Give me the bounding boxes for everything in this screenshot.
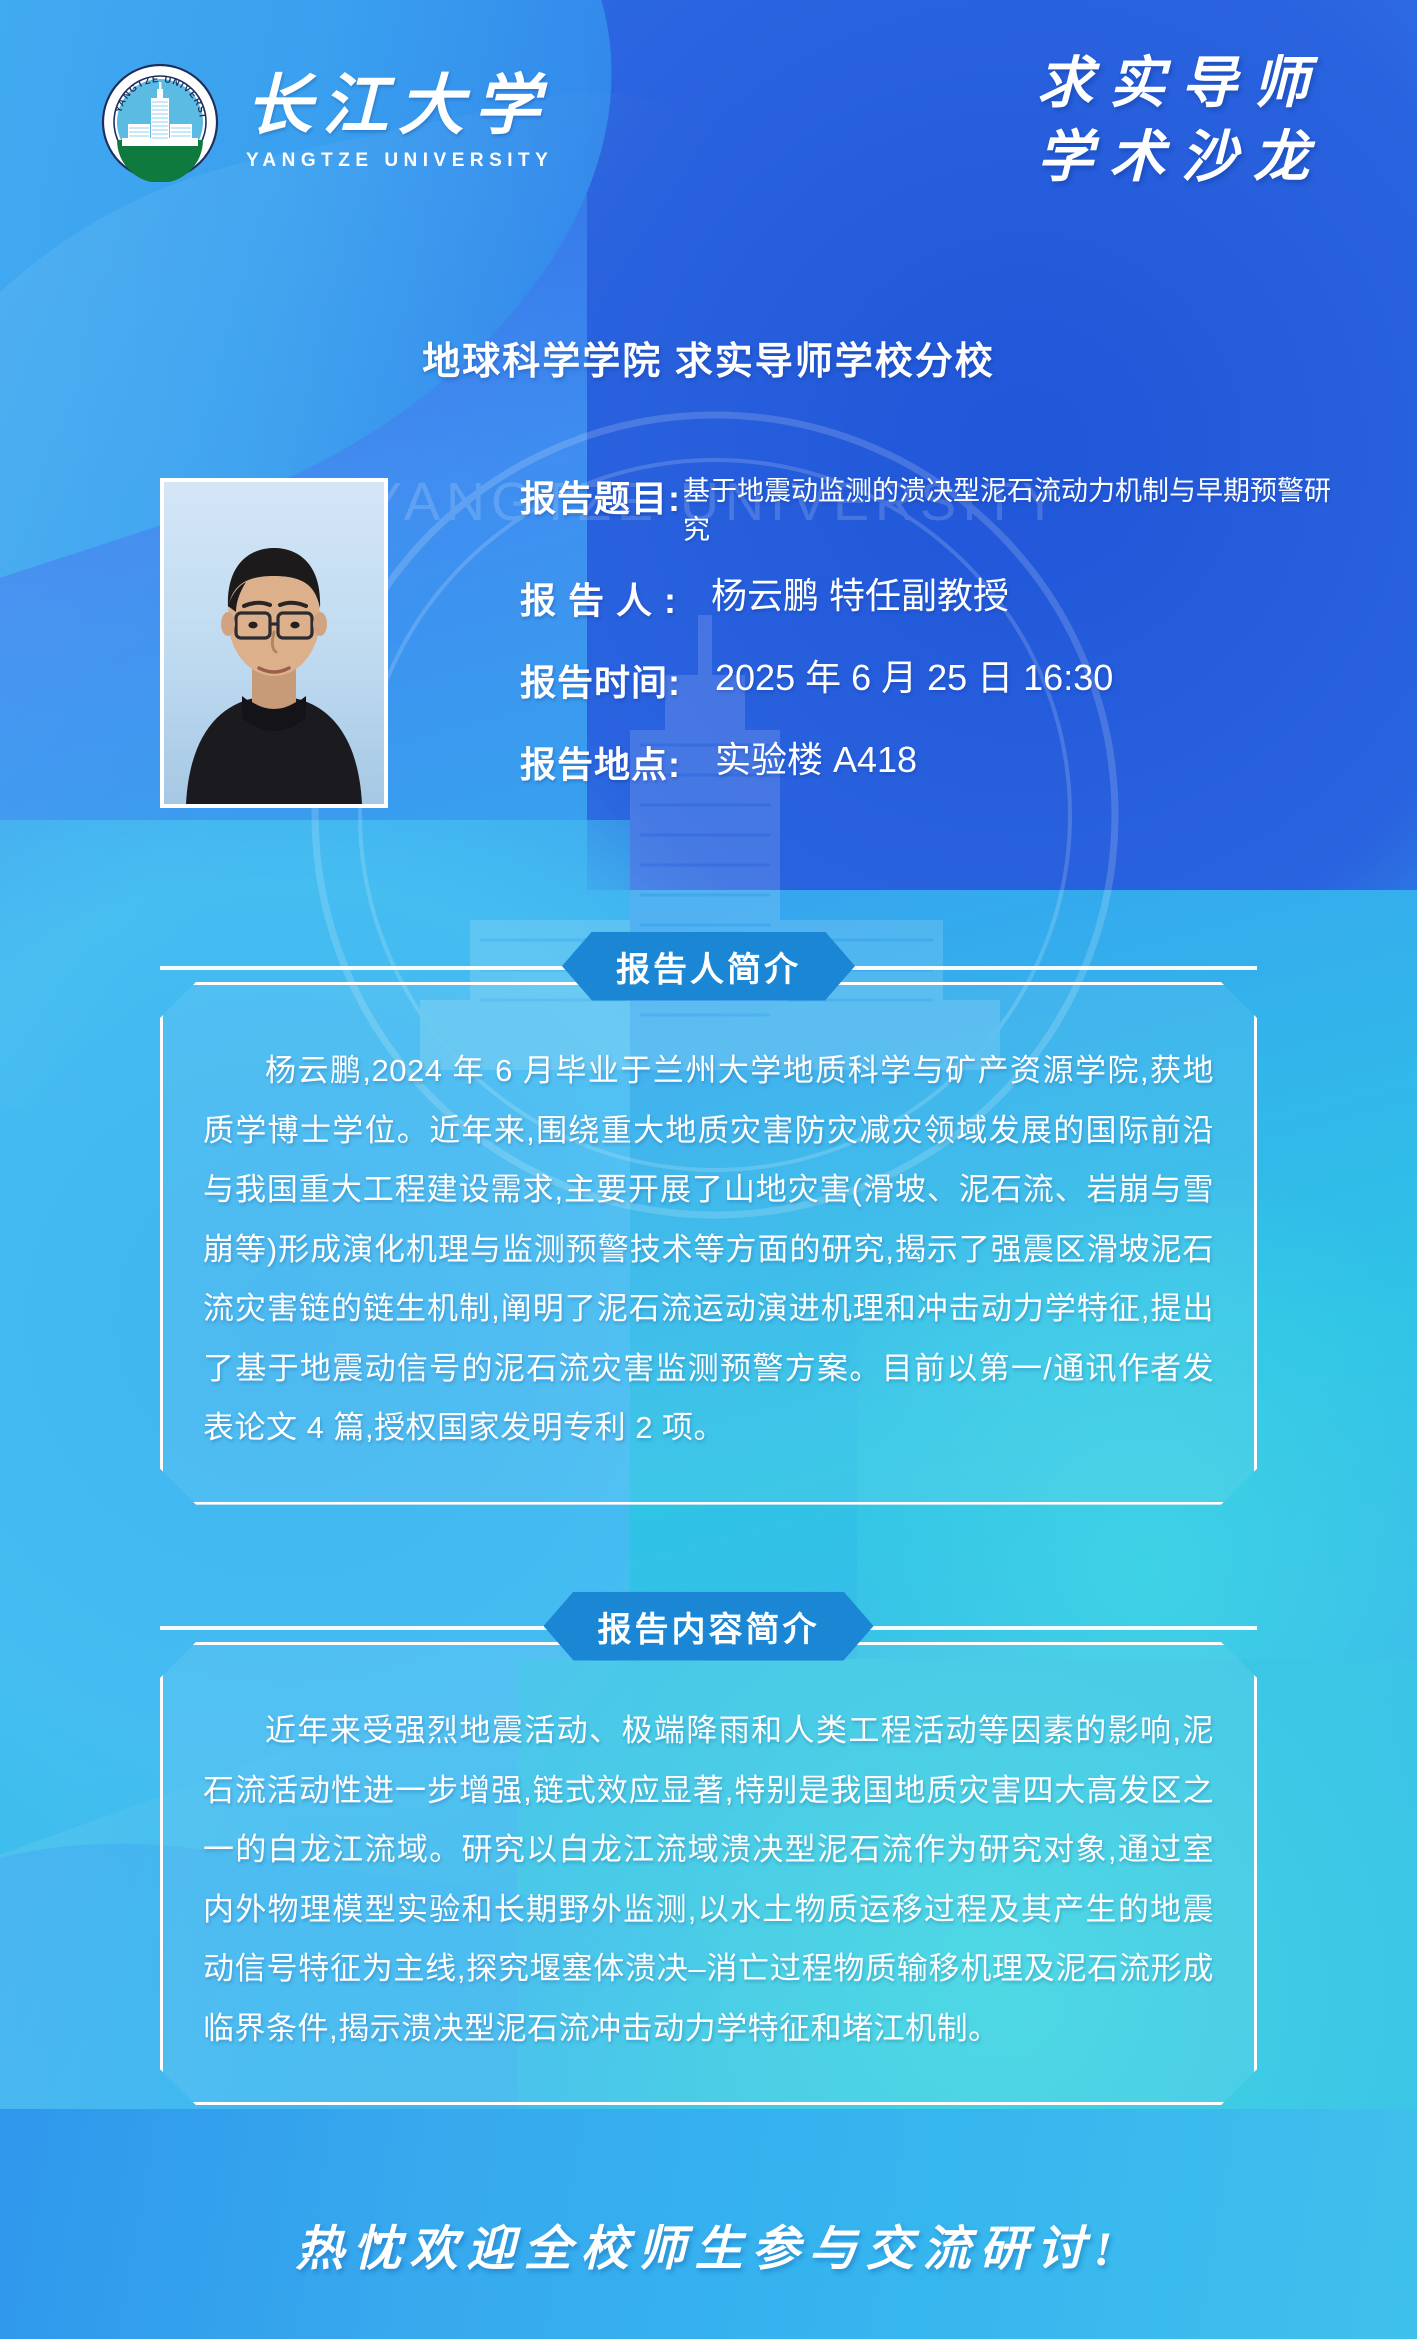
poster-canvas: YANGTZE UNIVERSITY	[0, 0, 1417, 2339]
speaker-portrait-icon	[164, 482, 384, 804]
place-label: 报告地点:	[520, 736, 681, 788]
time-value: 2025 年 6 月 25 日 16:30	[715, 654, 1113, 703]
info-row-time: 报告时间: 2025 年 6 月 25 日 16:30	[520, 654, 1350, 706]
yangtze-university-seal-icon: YANGTZE UNIVERSITY	[100, 62, 220, 182]
university-name-en: YANGTZE UNIVERSITY	[246, 150, 553, 172]
report-title-label: 报告题目:	[520, 470, 681, 522]
poster-footer: 热忱欢迎全校师生参与交流研讨!	[0, 2209, 1417, 2279]
speaker-photo	[160, 478, 388, 808]
card-report-abstract: 近年来受强烈地震活动、极端降雨和人类工程活动等因素的影响,泥石流活动性进一步增强…	[160, 1642, 1257, 2105]
section-report-abstract: 报告内容简介 近年来受强烈地震活动、极端降雨和人类工程活动等因素的影响,泥石流活…	[0, 1590, 1417, 2105]
banner-speaker-bio: 报告人简介	[0, 930, 1417, 1002]
banner-report-abstract: 报告内容简介	[0, 1590, 1417, 1662]
footer-welcome-text: 热忱欢迎全校师生参与交流研讨!	[296, 2223, 1122, 2276]
salon-title-line1: 求实导师	[1037, 48, 1325, 122]
event-info-block: 报告题目: 基于地震动监测的溃决型泥石流动力机制与早期预警研究 报 告 人 : …	[0, 470, 1417, 890]
university-logo-block: YANGTZE UNIVERSITY 长江大学 YANGTZE UNIVERSI…	[100, 62, 553, 182]
speaker-label: 报 告 人 :	[520, 572, 677, 624]
report-abstract-text: 近年来受强烈地震活动、极端降雨和人类工程活动等因素的影响,泥石流活动性进一步增强…	[203, 1701, 1214, 2058]
info-row-speaker: 报 告 人 : 杨云鹏 特任副教授	[520, 572, 1350, 624]
sub-header-text: 地球科学学院 求实导师学校分校	[0, 330, 1417, 385]
poster-header: YANGTZE UNIVERSITY 长江大学 YANGTZE UNIVERSI…	[0, 0, 1417, 290]
speaker-bio-text: 杨云鹏,2024 年 6 月毕业于兰州大学地质科学与矿产资源学院,获地质学博士学…	[203, 1041, 1214, 1458]
info-row-place: 报告地点: 实验楼 A418	[520, 736, 1350, 788]
salon-title-block: 求实导师 学术沙龙	[1037, 48, 1325, 196]
event-info-lines: 报告题目: 基于地震动监测的溃决型泥石流动力机制与早期预警研究 报 告 人 : …	[520, 470, 1350, 814]
university-name-block: 长江大学 YANGTZE UNIVERSITY	[246, 72, 553, 171]
report-title-value: 基于地震动监测的溃决型泥石流动力机制与早期预警研究	[683, 472, 1350, 550]
banner-label-report-abstract: 报告内容简介	[544, 1592, 874, 1661]
info-row-title: 报告题目: 基于地震动监测的溃决型泥石流动力机制与早期预警研究	[520, 470, 1350, 550]
time-label: 报告时间:	[520, 654, 681, 706]
section-speaker-bio: 报告人简介 杨云鹏,2024 年 6 月毕业于兰州大学地质科学与矿产资源学院,获…	[0, 930, 1417, 1505]
salon-title-line2: 学术沙龙	[1037, 122, 1325, 196]
card-speaker-bio: 杨云鹏,2024 年 6 月毕业于兰州大学地质科学与矿产资源学院,获地质学博士学…	[160, 982, 1257, 1505]
banner-label-speaker-bio: 报告人简介	[562, 932, 855, 1001]
speaker-value: 杨云鹏 特任副教授	[711, 572, 1009, 621]
place-value: 实验楼 A418	[715, 736, 917, 785]
university-name-cn: 长江大学	[246, 72, 553, 141]
